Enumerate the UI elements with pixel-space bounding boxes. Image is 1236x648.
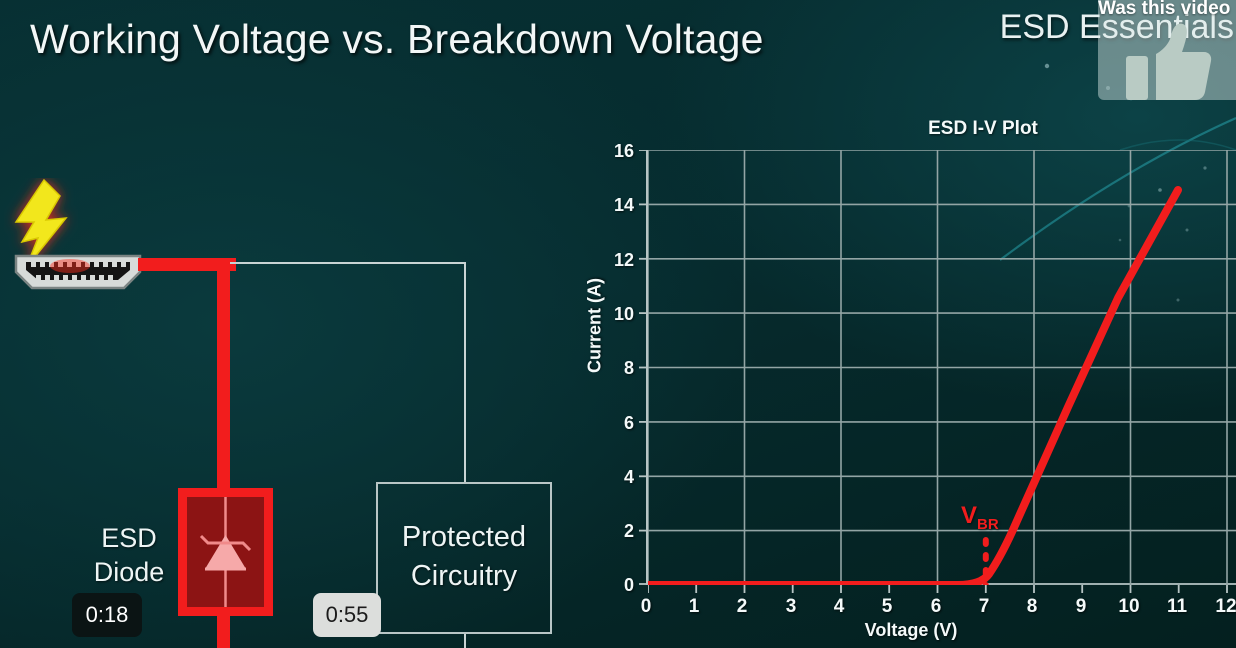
breakdown-voltage-label: VBR (961, 502, 999, 533)
wire-gray-horizontal (230, 262, 466, 264)
chart-xtick-4: 4 (824, 596, 854, 618)
protected-label-line1: Protected (376, 518, 552, 557)
chart-grid-horizontal (648, 150, 1236, 531)
chart-svg (648, 150, 1236, 585)
chart-xtick-12: 12 (1211, 596, 1236, 618)
vbr-subscript-text: BR (977, 516, 999, 533)
zener-diode-icon (187, 497, 264, 607)
chart-xtick-9: 9 (1066, 596, 1096, 618)
video-feedback-overlay[interactable]: Was this video (1098, 0, 1236, 100)
chart-xtick-5: 5 (872, 596, 902, 618)
timestamp-current-badge[interactable]: 0:18 (72, 593, 142, 637)
chart-ytick-16: 16 (600, 141, 634, 162)
timestamp-total-badge[interactable]: 0:55 (313, 593, 381, 637)
protected-label-line2: Circuitry (376, 557, 552, 596)
overlay-prompt-text: Was this video (1098, 0, 1236, 20)
wire-red-vertical-bottom (217, 614, 230, 648)
chart-xtick-11: 11 (1162, 596, 1192, 618)
thumbs-up-icon[interactable] (1126, 22, 1212, 100)
protected-circuitry-label: Protected Circuitry (376, 518, 552, 595)
wire-gray-vertical (464, 262, 466, 484)
chart-xtick-1: 1 (679, 596, 709, 618)
slide-canvas: Working Voltage vs. Breakdown Voltage ES… (0, 0, 1236, 648)
chart-xtick-10: 10 (1114, 596, 1144, 618)
chart-plot-area (646, 150, 1236, 585)
chart-xtick-3: 3 (776, 596, 806, 618)
esd-label-line2: Diode (86, 556, 172, 590)
iv-curve-series (648, 190, 1178, 585)
esd-diode-box (178, 488, 273, 616)
chart-ytick-8: 8 (600, 358, 634, 379)
chart-xtick-0: 0 (631, 596, 661, 618)
chart-title: ESD I-V Plot (578, 118, 1236, 140)
esd-diode-label: ESD Diode (86, 522, 172, 590)
chart-ytick-10: 10 (600, 304, 634, 325)
chart-x-axis-label: Voltage (V) (646, 620, 1176, 641)
chart-xtick-8: 8 (1017, 596, 1047, 618)
chart-ytick-6: 6 (600, 413, 634, 434)
chart-ytick-4: 4 (600, 467, 634, 488)
wire-gray-ground-lead (464, 632, 466, 648)
chart-ytick-12: 12 (600, 250, 634, 271)
hdmi-connector-icon (12, 252, 144, 292)
esd-iv-chart: ESD I-V Plot Current (A) Voltage (V) (578, 110, 1236, 648)
vbr-main-text: V (961, 502, 977, 529)
chart-ytick-14: 14 (600, 195, 634, 216)
wire-red-vertical-top (217, 258, 230, 490)
chart-xtick-7: 7 (969, 596, 999, 618)
chart-xtick-2: 2 (727, 596, 757, 618)
chart-ytick-2: 2 (600, 521, 634, 542)
circuit-diagram: ESD Diode Protected Circuitry (0, 170, 580, 540)
chart-ytick-0: 0 (600, 575, 634, 596)
page-title: Working Voltage vs. Breakdown Voltage (30, 16, 764, 63)
chart-xtick-6: 6 (921, 596, 951, 618)
chart-y-ticks (639, 150, 651, 585)
esd-label-line1: ESD (86, 522, 172, 556)
